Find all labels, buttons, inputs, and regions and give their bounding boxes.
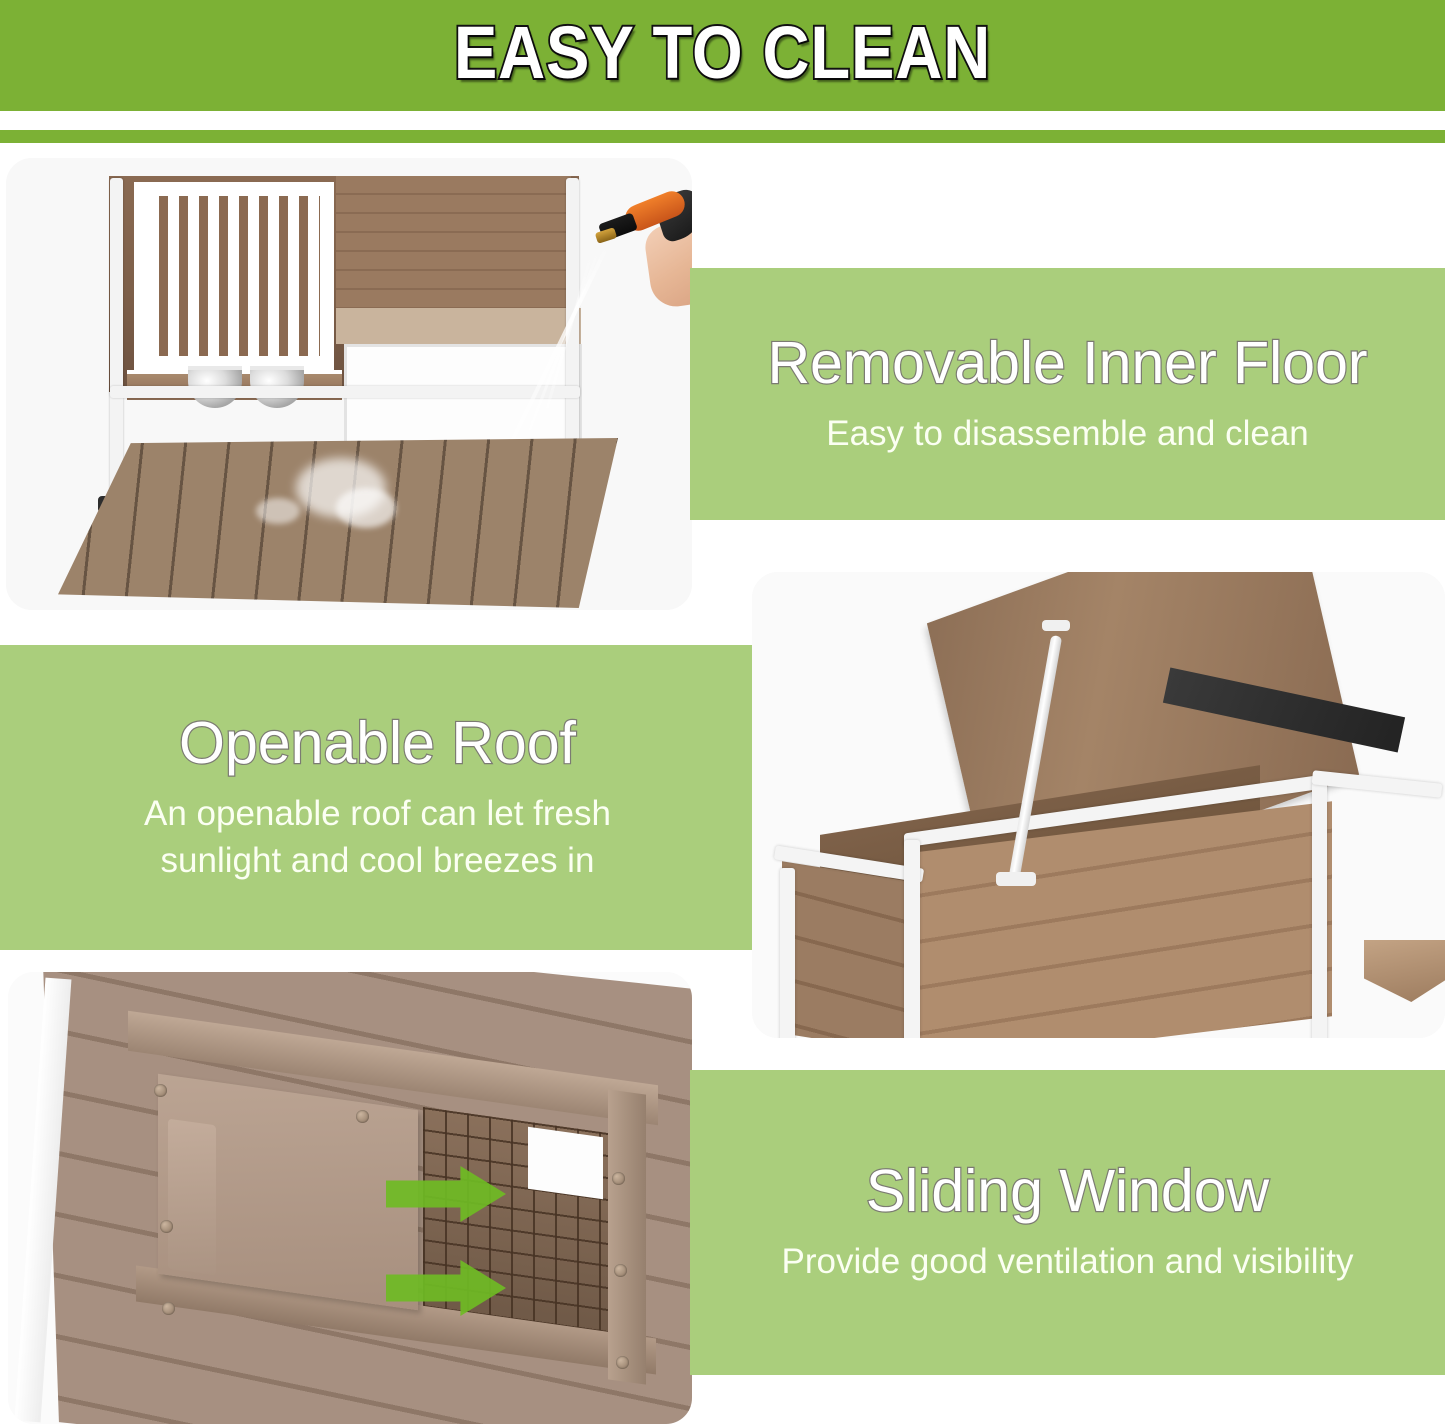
white-frame-rail-right [1312,770,1443,798]
frame-rail-horizontal [110,386,580,398]
feature-subtitle-sliding-window: Provide good ventilation and visibility [782,1238,1354,1285]
header-accent-stripe [0,130,1445,143]
house-right-section [1352,822,1445,1038]
sliding-window-handle [168,1119,216,1276]
frame-post-left [110,178,123,500]
screw [162,1302,175,1315]
strut-top-bracket [1042,620,1070,631]
hut-barred-gate [134,182,334,370]
white-frame-post-right [1312,782,1327,1038]
photo-scene [6,158,692,610]
screw [160,1220,173,1233]
strut-bottom-bracket [996,872,1036,886]
hut-open-door [344,344,582,454]
feature-title-removable-inner-floor: Removable Inner Floor [767,331,1367,396]
hose-nozzle-icon [596,190,692,308]
window-daylight-opening [528,1127,603,1200]
photo-openable-roof [752,572,1445,1038]
hut-inner-floor-edge [336,308,581,344]
feature-subtitle-removable-inner-floor: Easy to disassemble and clean [826,410,1309,457]
screw [356,1110,369,1123]
photo-removable-inner-floor [6,158,692,610]
screw [154,1084,167,1097]
water-splash [256,498,300,524]
feature-title-openable-roof: Openable Roof [179,711,576,776]
text-panel-sliding-window: Sliding Window Provide good ventilation … [690,1070,1445,1375]
screw [614,1264,627,1277]
page-title: EASY TO CLEAN [87,9,1359,96]
house-side-wall [782,861,917,1038]
water-splash [336,488,396,528]
photo-scene [8,972,692,1424]
text-panel-removable-inner-floor: Removable Inner Floor Easy to disassembl… [690,268,1445,520]
feature-subtitle-openable-roof: An openable roof can let fresh sunlight … [144,790,611,885]
screw [616,1356,629,1369]
nozzle-brass-end [595,227,617,244]
photo-sliding-window [8,972,692,1424]
feature-title-sliding-window: Sliding Window [866,1159,1269,1224]
white-frame-post-mid [904,840,920,1038]
text-panel-openable-roof: Openable Roof An openable roof can let f… [0,645,755,950]
screw [612,1172,625,1185]
photo-scene [752,572,1445,1038]
white-frame-post-left [780,868,795,1038]
hut-inner-wall [336,176,571,326]
window-frame-right [608,1089,646,1384]
gate-bars [148,196,320,356]
